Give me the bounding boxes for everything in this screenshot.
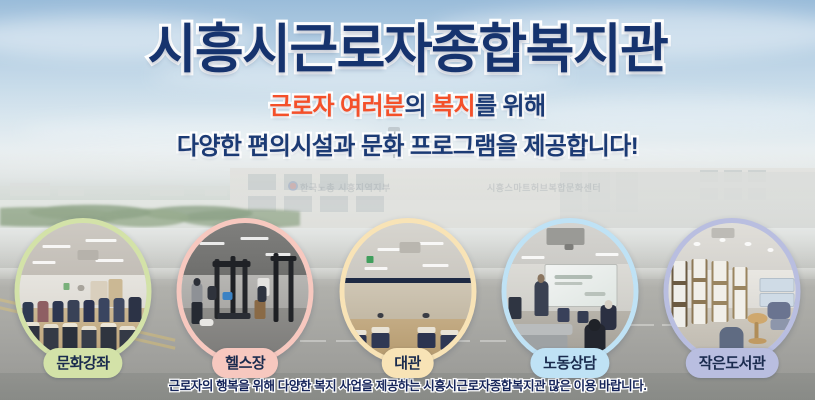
subtitle-highlight-workers: 근로자 여러분 bbox=[270, 93, 405, 120]
facility-photo-hall bbox=[339, 218, 476, 365]
subtitle-line-2: 다양한 편의시설과 문화 프로그램을 제공합니다! bbox=[0, 121, 815, 161]
facility-label: 대관 bbox=[381, 348, 434, 378]
photo-gym bbox=[182, 223, 309, 360]
facility-label: 노동상담 bbox=[530, 348, 609, 378]
subtitle-connector-1: 의 bbox=[404, 93, 432, 120]
facility-label: 문화강좌 bbox=[43, 348, 122, 378]
subtitle-highlight-welfare: 복지 bbox=[432, 93, 475, 120]
subtitle-connector-2: 를 위해 bbox=[475, 93, 546, 120]
subtitle-line-1: 근로자 여러분의 복지를 위해 bbox=[0, 78, 815, 121]
facility-photo-library bbox=[664, 218, 801, 365]
facility-photo-consult bbox=[501, 218, 638, 365]
headline-block: 시흥시근로자종합복지관 근로자 여러분의 복지를 위해 다양한 편의시설과 문화… bbox=[0, 0, 815, 162]
photo-rental-hall bbox=[344, 223, 471, 360]
facility-photo-culture bbox=[15, 218, 152, 365]
facility-card-strip: 문화강좌 bbox=[0, 218, 815, 378]
facility-card[interactable]: 노동상담 bbox=[495, 218, 645, 378]
facility-label: 작은도서관 bbox=[686, 348, 779, 378]
facility-card[interactable]: 작은도서관 bbox=[657, 218, 807, 378]
facility-card[interactable]: 문화강좌 bbox=[8, 218, 158, 378]
photo-culture-class bbox=[20, 223, 147, 360]
photo-small-library bbox=[669, 223, 796, 360]
facility-photo-gym bbox=[177, 218, 314, 365]
photo-labor-consultation bbox=[506, 223, 633, 360]
facility-label: 헬스장 bbox=[212, 348, 278, 378]
page-title: 시흥시근로자종합복지관 bbox=[0, 0, 815, 78]
facility-card[interactable]: 대관 bbox=[333, 218, 483, 378]
promo-banner: 한국노총 시흥지역지부 시흥스마트허브복합문화센터 시흥시근로자종합복지관 근로… bbox=[0, 0, 815, 400]
facility-card[interactable]: 헬스장 bbox=[170, 218, 320, 378]
